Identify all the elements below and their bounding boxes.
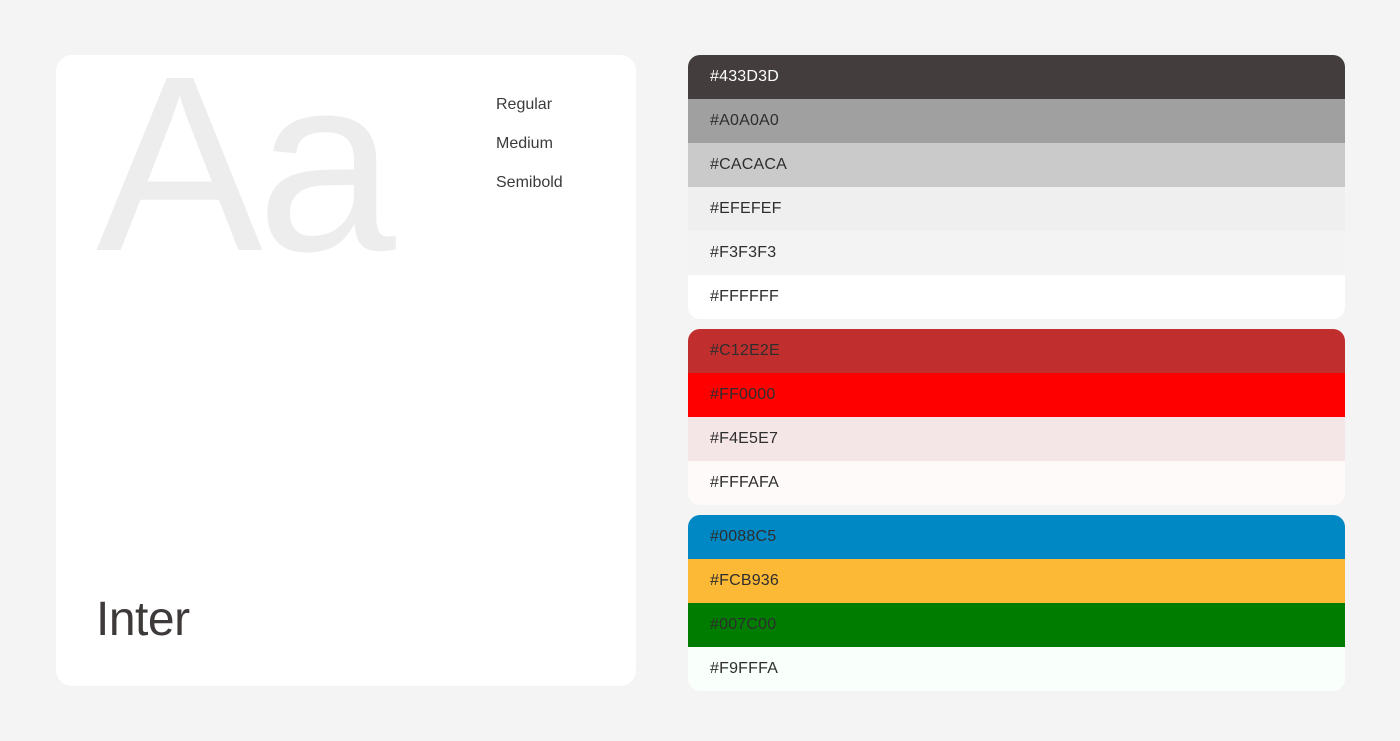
font-weight-list: Regular Medium Semibold — [496, 95, 563, 193]
color-swatch[interactable]: #F3F3F3 — [688, 231, 1345, 275]
color-swatch[interactable]: #FFFAFA — [688, 461, 1345, 505]
color-swatch[interactable]: #007C00 — [688, 603, 1345, 647]
color-swatch-label: #FF0000 — [710, 385, 775, 405]
color-swatch[interactable]: #FCB936 — [688, 559, 1345, 603]
design-system-board: Aa Regular Medium Semibold Inter #433D3D… — [0, 0, 1400, 741]
font-weight-medium: Medium — [496, 134, 563, 154]
color-swatch[interactable]: #F9FFFA — [688, 647, 1345, 691]
font-weight-regular: Regular — [496, 95, 563, 115]
color-swatch[interactable]: #433D3D — [688, 55, 1345, 99]
swatch-group-reds: #C12E2E #FF0000 #F4E5E7 #FFFAFA — [688, 329, 1345, 505]
color-swatch[interactable]: #C12E2E — [688, 329, 1345, 373]
color-swatch[interactable]: #0088C5 — [688, 515, 1345, 559]
color-swatch[interactable]: #EFEFEF — [688, 187, 1345, 231]
color-swatch-label: #007C00 — [710, 615, 776, 635]
color-swatch[interactable]: #FFFFFF — [688, 275, 1345, 319]
typography-card: Aa Regular Medium Semibold Inter — [56, 55, 636, 686]
color-swatch-label: #F4E5E7 — [710, 429, 778, 449]
color-swatch-label: #FCB936 — [710, 571, 779, 591]
swatch-group-neutrals: #433D3D #A0A0A0 #CACACA #EFEFEF #F3F3F3 … — [688, 55, 1345, 319]
color-swatch-label: #FFFFFF — [710, 287, 779, 307]
color-swatch-label: #F3F3F3 — [710, 243, 776, 263]
color-swatch-label: #433D3D — [710, 67, 779, 87]
typeface-specimen: Aa — [96, 39, 390, 289]
typeface-name: Inter — [96, 592, 190, 648]
color-swatch-label: #EFEFEF — [710, 199, 782, 219]
color-swatch-label: #FFFAFA — [710, 473, 779, 493]
color-swatch[interactable]: #CACACA — [688, 143, 1345, 187]
color-swatch[interactable]: #F4E5E7 — [688, 417, 1345, 461]
color-swatch[interactable]: #FF0000 — [688, 373, 1345, 417]
color-swatch-label: #C12E2E — [710, 341, 780, 361]
color-swatch-label: #F9FFFA — [710, 659, 778, 679]
swatch-group-accents: #0088C5 #FCB936 #007C00 #F9FFFA — [688, 515, 1345, 691]
color-palette: #433D3D #A0A0A0 #CACACA #EFEFEF #F3F3F3 … — [688, 55, 1345, 691]
font-weight-semibold: Semibold — [496, 173, 563, 193]
color-swatch[interactable]: #A0A0A0 — [688, 99, 1345, 143]
color-swatch-label: #A0A0A0 — [710, 111, 779, 131]
color-swatch-label: #0088C5 — [710, 527, 776, 547]
color-swatch-label: #CACACA — [710, 155, 787, 175]
